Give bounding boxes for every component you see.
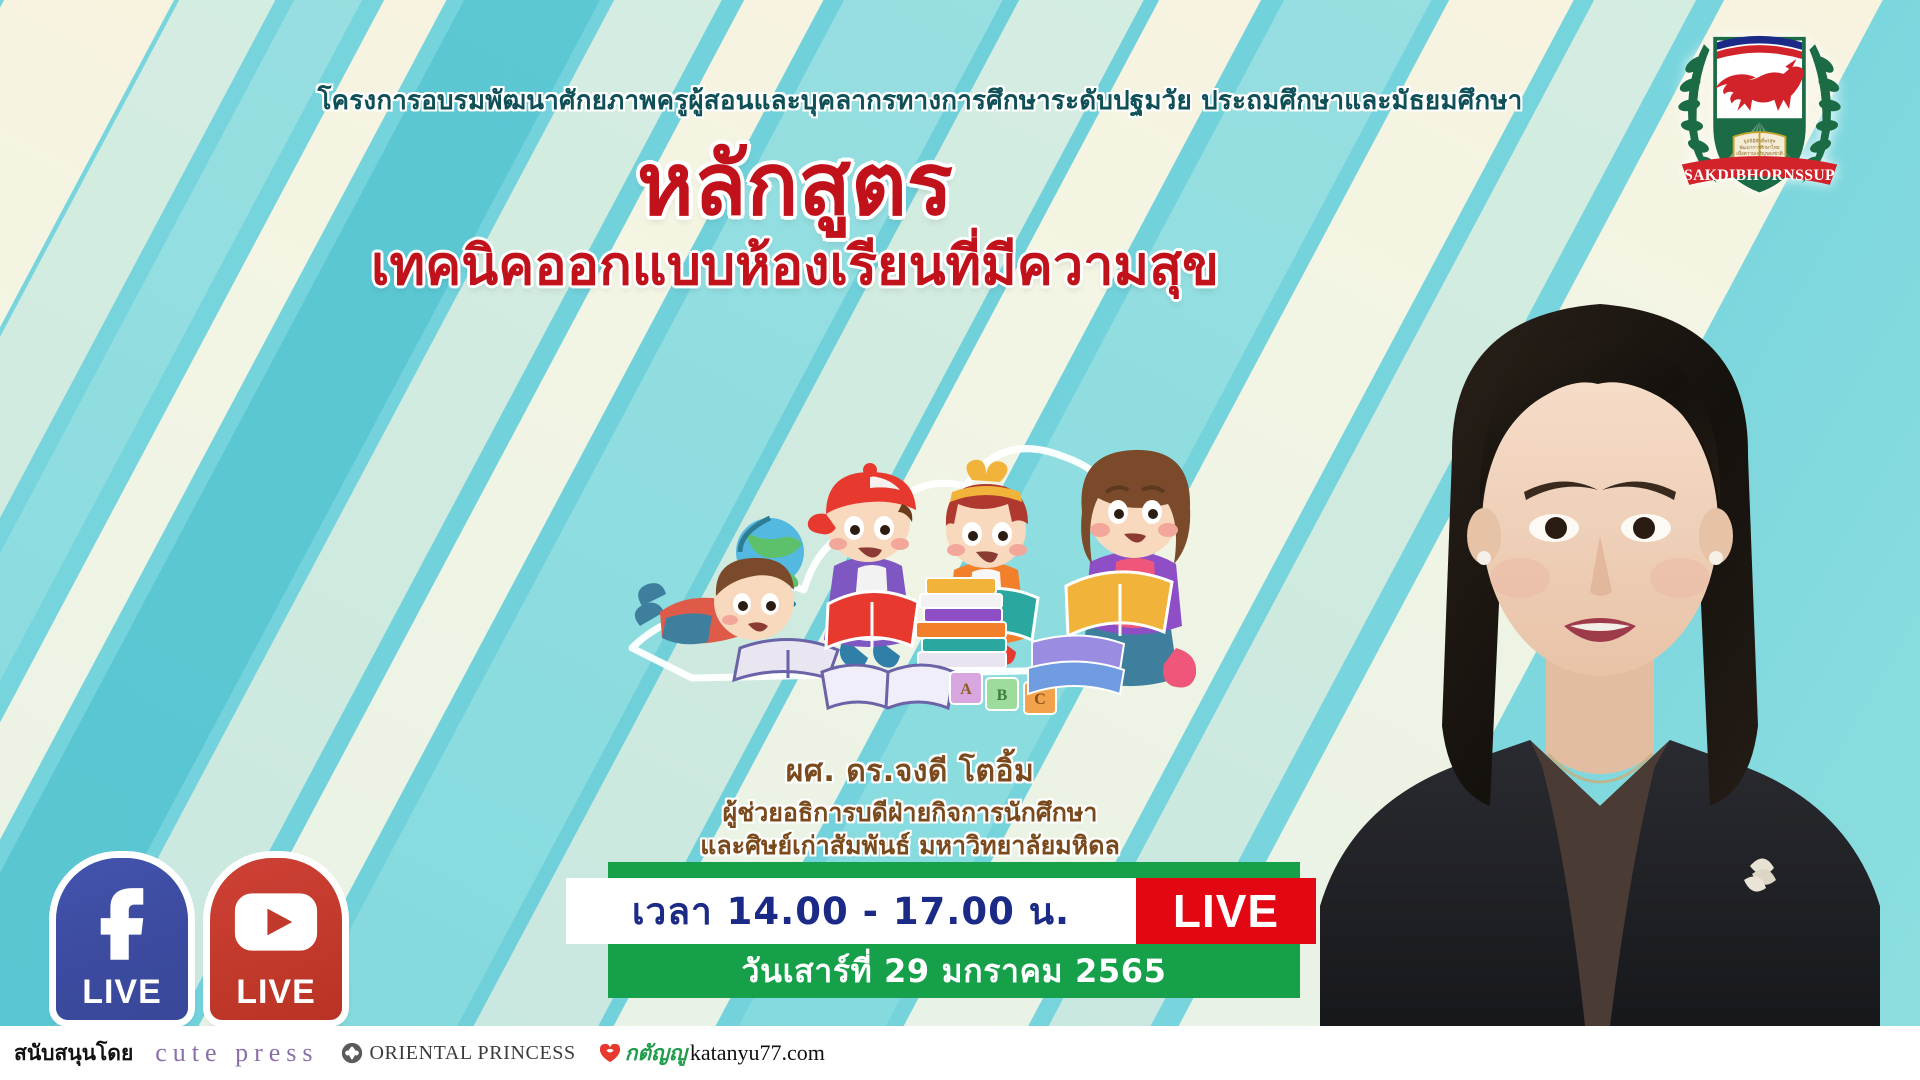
open-book-floor [822, 665, 954, 708]
youtube-live-label: LIVE [236, 973, 316, 1020]
svg-text:C: C [1034, 691, 1046, 708]
illustration-svg: A B C [620, 380, 1280, 720]
katanyu-heart-icon [598, 1042, 622, 1064]
main-title: หลักสูตร [0, 140, 1590, 230]
svg-text:มูลนิธิศักดิ์พรสุพ: มูลนิธิศักดิ์พรสุพ [1744, 136, 1776, 144]
cheek-right [1650, 558, 1710, 598]
course-subtitle: เทคนิคออกแบบห้องเรียนที่มีความสุข [0, 236, 1590, 295]
oriental-princess-icon [341, 1042, 363, 1064]
speaker-role-line-2: และศิษย์เก่าสัมพันธ์ มหาวิทยาลัยมหิดล [560, 830, 1260, 861]
book-stack [916, 578, 1006, 668]
katanyu-thai-text: กตัญญู [625, 1037, 687, 1070]
program-header-text: โครงการอบรมพัฒนาศักยภาพครูผู้สอนและบุคลา… [0, 80, 1920, 121]
cheek-left [1490, 558, 1550, 598]
crest-ribbon-text: SAKDIBHORNSSUP [1684, 167, 1835, 184]
speaker-role-line-1: ผู้ช่วยอธิการบดีฝ่ายกิจการนักศึกษา [560, 797, 1260, 828]
pupil-right [1633, 517, 1655, 539]
banner-top-green-bar [608, 862, 1300, 878]
sponsor-strip: สนับสนุนโดย cute press ORIENTAL PRINCESS… [0, 1026, 1920, 1080]
oriental-princess-text: ORIENTAL PRINCESS [370, 1042, 576, 1065]
facebook-live-button[interactable]: LIVE [56, 858, 188, 1020]
earring-right [1709, 551, 1723, 565]
facebook-f-glyph [93, 884, 151, 960]
presenter-photo [1280, 206, 1920, 1026]
live-badge: LIVE [1136, 878, 1316, 944]
presenter-portrait-svg [1280, 206, 1920, 1026]
sponsor-katanyu: กตัญญู katanyu77.com [598, 1037, 825, 1070]
youtube-live-button[interactable]: LIVE [210, 858, 342, 1020]
social-live-buttons: LIVE LIVE [56, 858, 342, 1020]
event-date: วันเสาร์ที่ 29 มกราคม 2565 [608, 944, 1300, 998]
facebook-icon [93, 870, 151, 973]
facebook-live-label: LIVE [82, 973, 162, 1020]
closed-books-right [1028, 635, 1124, 694]
pupil-left [1545, 517, 1567, 539]
katanyu-url-text: katanyu77.com [690, 1040, 825, 1066]
schedule-banner: เวลา 14.00 - 17.00 น. LIVE วันเสาร์ที่ 2… [566, 862, 1316, 998]
banner-time-row: เวลา 14.00 - 17.00 น. LIVE [566, 878, 1316, 944]
child-with-cap-reading [808, 463, 918, 669]
speaker-info: ผศ. ดร.จงดี โตอิ้ม ผู้ช่วยอธิการบดีฝ่ายก… [560, 748, 1260, 862]
poster-canvas: มูลนิธิศักดิ์พรสุพ พัฒนาการศึกษาไทย เพื่… [0, 0, 1920, 1080]
speaker-name: ผศ. ดร.จงดี โตอิ้ม [560, 748, 1260, 795]
earring-left [1477, 551, 1491, 565]
svg-text:พัฒนาการศึกษาไทย: พัฒนาการศึกษาไทย [1739, 144, 1779, 150]
svg-text:A: A [960, 681, 972, 698]
sponsor-cute-press: cute press [155, 1038, 318, 1068]
youtube-icon [233, 870, 319, 973]
youtube-play-glyph [233, 891, 319, 953]
sponsor-label: สนับสนุนโดย [14, 1037, 133, 1070]
sponsor-oriental-princess: ORIENTAL PRINCESS [341, 1042, 576, 1065]
event-time: เวลา 14.00 - 17.00 น. [566, 878, 1136, 944]
title-block: หลักสูตร เทคนิคออกแบบห้องเรียนที่มีความส… [0, 140, 1590, 296]
children-reading-illustration: A B C [620, 380, 1280, 720]
svg-text:B: B [997, 687, 1008, 704]
